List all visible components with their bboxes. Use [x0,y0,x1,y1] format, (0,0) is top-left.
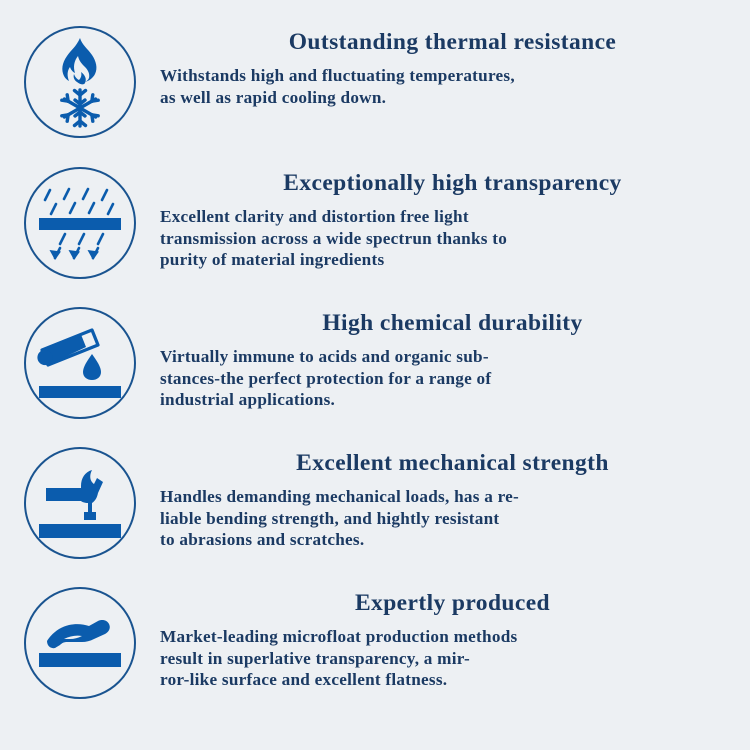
text-cell: Outstanding thermal resistance Withstand… [160,22,750,108]
text-cell: Exceptionally high transparency Excellen… [160,163,750,271]
icon-cell [0,163,160,279]
icon-cell [0,443,160,559]
icon-circle [24,587,136,699]
feature-title: High chemical durability [160,309,745,337]
feature-row: Expertly produced Market-leading microfl… [0,583,750,699]
chemical-droplet-icon [34,320,126,406]
icon-circle [24,307,136,419]
feature-description: Excellent clarity and distortion free li… [160,206,745,271]
icon-cell [0,303,160,419]
icon-circle [24,26,136,138]
feature-description: Handles demanding mechanical loads, has … [160,486,745,551]
feature-list-panel: Outstanding thermal resistance Withstand… [0,0,750,750]
flame-snowflake-icon [41,36,119,128]
feature-description: Withstands high and fluctuating temperat… [160,65,745,108]
icon-circle [24,447,136,559]
text-cell: Expertly produced Market-leading microfl… [160,583,750,691]
feature-row: Exceptionally high transparency Excellen… [0,163,750,279]
hammer-icon [34,460,126,546]
text-cell: High chemical durability Virtually immun… [160,303,750,411]
text-cell: Excellent mechanical strength Handles de… [160,443,750,551]
feature-description: Market-leading microfloat production met… [160,626,745,691]
feature-description: Virtually immune to acids and organic su… [160,346,745,411]
light-transmission-icon [34,180,126,266]
feature-title: Exceptionally high transparency [160,169,745,197]
feature-title: Excellent mechanical strength [160,449,745,477]
feature-row: High chemical durability Virtually immun… [0,303,750,419]
open-hand-icon [34,603,126,683]
feature-title: Outstanding thermal resistance [160,28,745,56]
icon-circle [24,167,136,279]
icon-cell [0,22,160,138]
icon-cell [0,583,160,699]
feature-row: Outstanding thermal resistance Withstand… [0,22,750,138]
feature-row: Excellent mechanical strength Handles de… [0,443,750,559]
feature-title: Expertly produced [160,589,745,617]
